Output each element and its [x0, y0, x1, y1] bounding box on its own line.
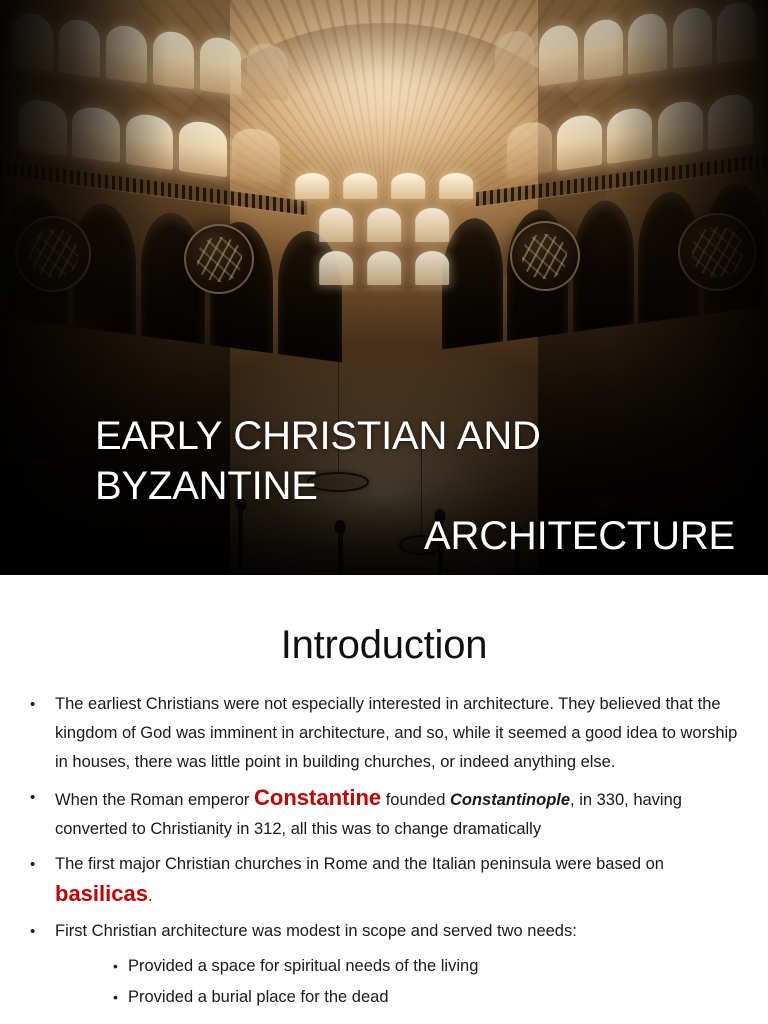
emphasis-term: Constantinople: [450, 791, 570, 809]
bullet-item: •First Christian architecture was modest…: [30, 917, 738, 946]
text-run: The first major Christian churches in Ro…: [55, 855, 664, 873]
sub-bullet-item: •Provided a space for spiritual needs of…: [30, 952, 738, 981]
sub-bullet-item: •Provided a burial place for the dead: [30, 983, 738, 1012]
bullet-marker-icon: •: [113, 952, 128, 981]
accent-term: basilicas: [55, 881, 148, 906]
text-run: When the Roman emperor: [55, 791, 254, 809]
text-run: .: [148, 887, 153, 905]
bullet-text: Provided a space for spiritual needs of …: [128, 952, 738, 981]
bullet-item: •The earliest Christians were not especi…: [30, 690, 738, 777]
text-run: Provided a burial place for the dead: [128, 988, 389, 1006]
bullet-list: •The earliest Christians were not especi…: [0, 668, 768, 1012]
introduction-slide: Introduction •The earliest Christians we…: [0, 575, 768, 1024]
bullet-marker-icon: •: [30, 690, 55, 719]
text-run: Provided a space for spiritual needs of …: [128, 957, 478, 975]
bullet-marker-icon: •: [113, 983, 128, 1012]
accent-term: Constantine: [254, 785, 381, 810]
bullet-text: First Christian architecture was modest …: [55, 917, 738, 946]
bullet-marker-icon: •: [30, 783, 55, 812]
page-title: Introduction: [0, 575, 768, 668]
slide-title-line-1: EARLY CHRISTIAN AND BYZANTINE: [95, 411, 735, 511]
text-run: First Christian architecture was modest …: [55, 922, 577, 940]
bullet-text: When the Roman emperor Constantine found…: [55, 783, 738, 844]
bullet-text: The earliest Christians were not especia…: [55, 690, 738, 777]
text-run: founded: [381, 791, 450, 809]
bullet-marker-icon: •: [30, 917, 55, 946]
bullet-marker-icon: •: [30, 850, 55, 879]
bullet-text: Provided a burial place for the dead: [128, 983, 738, 1012]
title-slide: EARLY CHRISTIAN AND BYZANTINE ARCHITECTU…: [0, 0, 768, 575]
slide-title: EARLY CHRISTIAN AND BYZANTINE ARCHITECTU…: [95, 411, 735, 561]
bullet-item: •When the Roman emperor Constantine foun…: [30, 783, 738, 844]
bullet-text: The first major Christian churches in Ro…: [55, 850, 738, 911]
text-run: The earliest Christians were not especia…: [55, 695, 737, 771]
slide-title-line-2: ARCHITECTURE: [95, 511, 735, 561]
bullet-item: •The first major Christian churches in R…: [30, 850, 738, 911]
